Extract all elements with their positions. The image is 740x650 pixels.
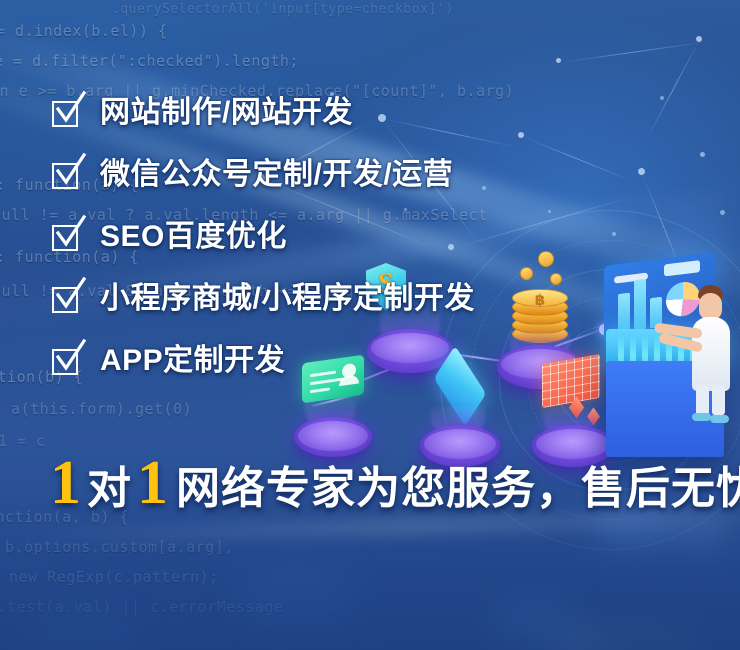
pedestal-disc	[294, 417, 372, 457]
tagline-rest: 网络专家为您服务，售后无忧！	[176, 467, 740, 511]
checklist-item[interactable]: 小程序商城/小程序定制开发	[52, 284, 692, 314]
checklist-item-label: APP定制开发	[100, 346, 285, 376]
tagline-number-second: 1	[137, 452, 168, 514]
tagline-number-first: 1	[50, 452, 81, 514]
service-tagline: 1 对 1 网络专家为您服务，售后无忧！	[50, 452, 740, 514]
checklist-item-label: 小程序商城/小程序定制开发	[100, 284, 475, 314]
checkbox-checked-icon[interactable]	[52, 98, 82, 128]
checklist-item-label: 网站制作/网站开发	[100, 98, 353, 128]
tagline-between-word: 对	[87, 467, 131, 511]
checklist-item[interactable]: SEO百度优化	[52, 222, 692, 252]
checkbox-checked-icon[interactable]	[52, 160, 82, 190]
checklist-item[interactable]: 微信公众号定制/开发/运营	[52, 160, 692, 190]
checkbox-checked-icon[interactable]	[52, 284, 82, 314]
checklist-item-label: 微信公众号定制/开发/运营	[100, 160, 453, 190]
checkbox-checked-icon[interactable]	[52, 346, 82, 376]
checklist-item[interactable]: APP定制开发	[52, 346, 692, 376]
code-line: = d.index(b.el)) {	[0, 22, 168, 40]
code-line: = a(this.form).get(0)	[0, 400, 192, 418]
checklist-item-label: SEO百度优化	[100, 222, 287, 252]
code-line: .querySelectorAll('input[type=checkbox]'…	[112, 2, 453, 17]
promo-banner: .querySelectorAll('input[type=checkbox]'…	[0, 0, 740, 650]
code-line: e = d.filter(":checked").length;	[0, 52, 299, 70]
checkbox-checked-icon[interactable]	[52, 222, 82, 252]
checklist-item[interactable]: 网站制作/网站开发	[52, 98, 692, 128]
services-checklist: 网站制作/网站开发 微信公众号定制/开发/运营 SEO百度优化 小程序商城/小程…	[52, 98, 692, 376]
